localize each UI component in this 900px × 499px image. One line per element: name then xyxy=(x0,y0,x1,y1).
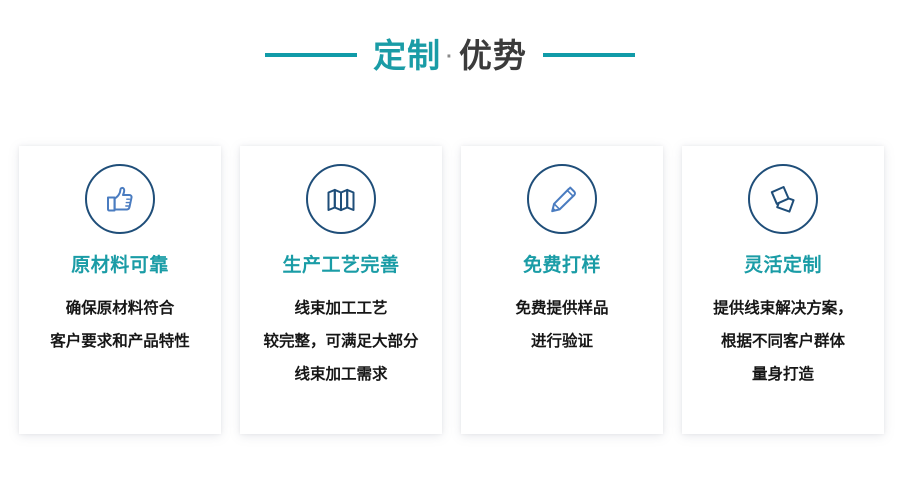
card-body-line: 线束加工工艺 xyxy=(248,292,434,325)
page-title: 定制 · 优势 xyxy=(373,39,527,72)
feature-card[interactable]: 免费打样 免费提供样品 进行验证 xyxy=(461,146,663,434)
card-body: 免费提供样品 进行验证 xyxy=(461,292,663,358)
title-rule-right xyxy=(543,53,635,57)
card-body-line: 线束加工需求 xyxy=(248,358,434,391)
title-main-text: 优势 xyxy=(459,39,527,72)
pencil-icon xyxy=(527,164,597,234)
card-heading: 原材料可靠 xyxy=(71,256,169,275)
card-body: 确保原材料符合 客户要求和产品特性 xyxy=(19,292,221,358)
card-body: 线束加工工艺 较完整，可满足大部分 线束加工需求 xyxy=(240,292,442,391)
card-body-line: 进行验证 xyxy=(469,325,655,358)
card-body-line: 免费提供样品 xyxy=(469,292,655,325)
card-body-line: 客户要求和产品特性 xyxy=(27,325,213,358)
folded-map-icon xyxy=(306,164,376,234)
card-body-line: 较完整，可满足大部分 xyxy=(248,325,434,358)
feature-card-list: 原材料可靠 确保原材料符合 客户要求和产品特性 生产工艺完善 线束加工工艺 较完… xyxy=(19,146,885,434)
card-body-line: 根据不同客户群体 xyxy=(690,325,876,358)
section-title: 定制 · 优势 xyxy=(0,26,900,84)
feature-card[interactable]: 生产工艺完善 线束加工工艺 较完整，可满足大部分 线束加工需求 xyxy=(240,146,442,434)
card-body: 提供线束解决方案， 根据不同客户群体 量身打造 xyxy=(682,292,884,391)
title-rule-left xyxy=(265,53,357,57)
thumbs-up-icon xyxy=(85,164,155,234)
title-separator-dot: · xyxy=(441,47,459,67)
feature-card[interactable]: 灵活定制 提供线束解决方案， 根据不同客户群体 量身打造 xyxy=(682,146,884,434)
card-body-line: 确保原材料符合 xyxy=(27,292,213,325)
title-accent-text: 定制 xyxy=(373,39,441,72)
card-heading: 灵活定制 xyxy=(744,256,822,275)
card-heading: 免费打样 xyxy=(523,256,601,275)
feature-card[interactable]: 原材料可靠 确保原材料符合 客户要求和产品特性 xyxy=(19,146,221,434)
card-body-line: 提供线束解决方案， xyxy=(690,292,876,325)
card-body-line: 量身打造 xyxy=(690,358,876,391)
stacked-sheets-icon xyxy=(748,164,818,234)
card-heading: 生产工艺完善 xyxy=(282,256,399,275)
